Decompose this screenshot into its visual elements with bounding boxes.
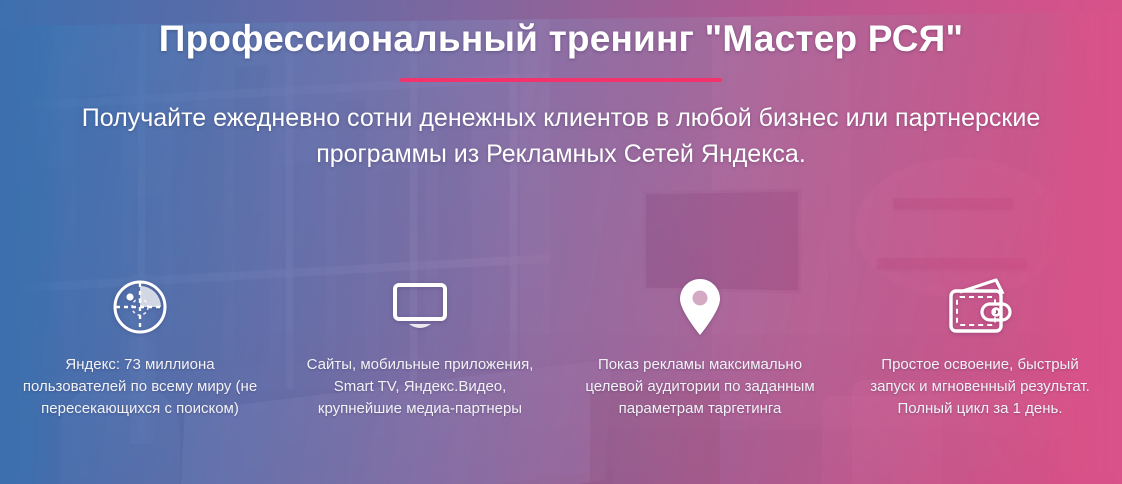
feature-text: Показ рекламы максимально целевой аудито… bbox=[569, 354, 831, 420]
page-title: Профессиональный тренинг "Мастер РСЯ" bbox=[0, 18, 1122, 60]
feature-text: Простое освоение, быстрый запуск и мгнов… bbox=[849, 354, 1111, 420]
hero-banner: Профессиональный тренинг "Мастер РСЯ" По… bbox=[0, 0, 1122, 484]
feature-list: Яндекс: 73 миллиона пользователей по все… bbox=[0, 276, 1122, 420]
hero-content: Профессиональный тренинг "Мастер РСЯ" По… bbox=[0, 0, 1122, 484]
feature-item-audience: Яндекс: 73 миллиона пользователей по все… bbox=[0, 276, 280, 420]
feature-item-targeting: Показ рекламы максимально целевой аудито… bbox=[560, 276, 840, 420]
title-divider bbox=[400, 78, 722, 82]
page-subtitle: Получайте ежедневно сотни денежных клиен… bbox=[31, 100, 1091, 172]
feature-item-simplicity: Простое освоение, быстрый запуск и мгнов… bbox=[840, 276, 1120, 420]
feature-item-platforms: Сайты, мобильные приложения, Smart TV, Я… bbox=[280, 276, 560, 420]
feature-text: Яндекс: 73 миллиона пользователей по все… bbox=[9, 354, 271, 420]
feature-text: Сайты, мобильные приложения, Smart TV, Я… bbox=[289, 354, 551, 420]
radar-target-icon bbox=[111, 276, 169, 338]
map-pin-icon bbox=[678, 276, 722, 338]
monitor-screen-icon bbox=[389, 276, 451, 338]
wallet-icon bbox=[946, 276, 1014, 338]
